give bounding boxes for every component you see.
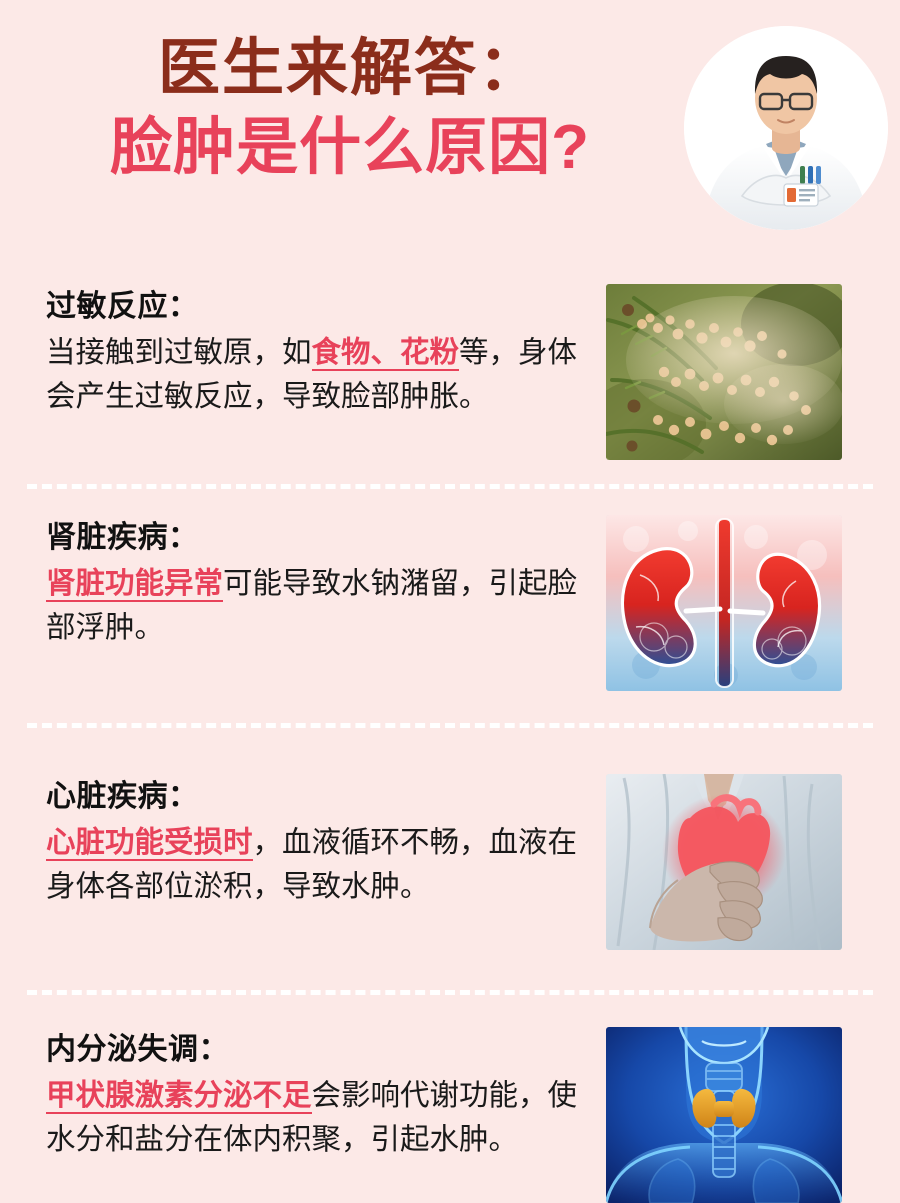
section-endocrine-heading: 内分泌失调： bbox=[46, 1027, 596, 1072]
section-heart-body: 心脏功能受损时，血液循环不畅，血液在身体各部位淤积，导致水肿。 bbox=[46, 821, 596, 910]
title-line-primary: 医生来解答： bbox=[0, 32, 700, 105]
section-allergy-text: 过敏反应： 当接触到过敏原，如食物、花粉等，身体会产生过敏反应，导致脸部肿胀。 bbox=[46, 284, 606, 420]
page-title: 医生来解答： 脸肿是什么原因? bbox=[0, 32, 700, 184]
heart-pain-photo bbox=[606, 774, 842, 950]
section-kidney-text: 肾脏疾病： 肾脏功能异常可能导致水钠潴留，引起脸部浮肿。 bbox=[46, 515, 606, 651]
section-heart-text: 心脏疾病： 心脏功能受损时，血液循环不畅，血液在身体各部位淤积，导致水肿。 bbox=[46, 774, 606, 910]
thyroid-illustration bbox=[606, 1027, 842, 1203]
section-endocrine-body: 甲状腺激素分泌不足会影响代谢功能，使水分和盐分在体内积聚，引起水肿。 bbox=[46, 1074, 596, 1163]
body-text-plain: 当接触到过敏原，如 bbox=[46, 336, 312, 369]
kidney-illustration bbox=[606, 515, 842, 691]
doctor-avatar bbox=[684, 26, 888, 230]
section-allergy-body: 当接触到过敏原，如食物、花粉等，身体会产生过敏反应，导致脸部肿胀。 bbox=[46, 331, 596, 420]
section-kidney-body: 肾脏功能异常可能导致水钠潴留，引起脸部浮肿。 bbox=[46, 562, 596, 651]
section-heart-heading: 心脏疾病： bbox=[46, 774, 596, 819]
content-sections: 过敏反应： 当接触到过敏原，如食物、花粉等，身体会产生过敏反应，导致脸部肿胀。 bbox=[0, 270, 900, 1203]
title-line-secondary: 脸肿是什么原因? bbox=[0, 111, 700, 184]
page-header: 医生来解答： 脸肿是什么原因? bbox=[0, 0, 900, 270]
body-text-highlight: 食物、花粉 bbox=[312, 336, 460, 371]
section-endocrine: 内分泌失调： 甲状腺激素分泌不足会影响代谢功能，使水分和盐分在体内积聚，引起水肿… bbox=[0, 995, 900, 1203]
body-text-highlight: 肾脏功能异常 bbox=[46, 567, 223, 602]
section-kidney: 肾脏疾病： 肾脏功能异常可能导致水钠潴留，引起脸部浮肿。 bbox=[0, 489, 900, 691]
section-allergy-heading: 过敏反应： bbox=[46, 284, 596, 329]
body-text-highlight: 甲状腺激素分泌不足 bbox=[46, 1079, 312, 1114]
pollen-photo bbox=[606, 284, 842, 460]
section-heart: 心脏疾病： 心脏功能受损时，血液循环不畅，血液在身体各部位淤积，导致水肿。 bbox=[0, 728, 900, 950]
body-text-highlight: 心脏功能受损时 bbox=[46, 826, 253, 861]
section-allergy: 过敏反应： 当接触到过敏原，如食物、花粉等，身体会产生过敏反应，导致脸部肿胀。 bbox=[0, 270, 900, 460]
section-endocrine-text: 内分泌失调： 甲状腺激素分泌不足会影响代谢功能，使水分和盐分在体内积聚，引起水肿… bbox=[46, 1027, 606, 1163]
section-kidney-heading: 肾脏疾病： bbox=[46, 515, 596, 560]
